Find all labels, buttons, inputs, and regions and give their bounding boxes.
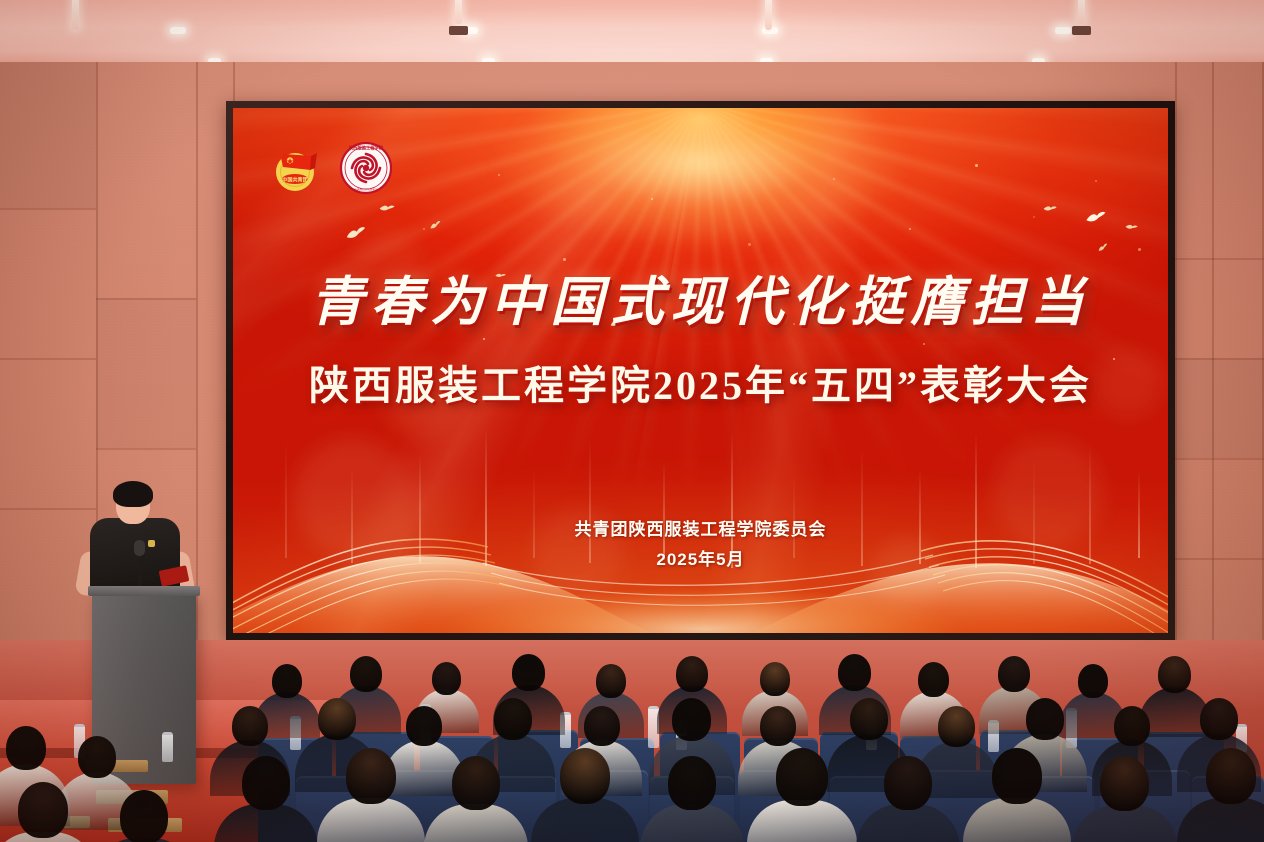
dove-icon-3 — [429, 216, 442, 234]
audience-member-head — [120, 790, 168, 842]
pendant-cap-4 — [1072, 26, 1091, 35]
dove-icon-1 — [345, 226, 367, 245]
wall-seam-horizontal-2 — [0, 358, 96, 360]
audience-member-head — [938, 706, 975, 747]
light-particle-10 — [975, 164, 978, 167]
emblem-group: 中国共青团 陕西服装工程学院 SHAANXI FASHION — [267, 141, 393, 200]
audience-member-head — [1158, 656, 1191, 693]
audience-member-head — [242, 756, 290, 810]
audience-member-head — [512, 654, 545, 691]
dove-icon-5 — [1085, 210, 1107, 229]
conference-hall-photo: 中国共青团 陕西服装工程学院 SHAANXI FASHION — [0, 0, 1264, 842]
audience-member-head — [760, 706, 796, 746]
pendant-light-4 — [1078, 0, 1085, 24]
light-particle-13 — [1138, 248, 1141, 251]
podium-top — [88, 586, 200, 596]
downlight-4 — [1055, 27, 1071, 34]
pendant-light-2 — [455, 0, 462, 24]
light-particle-7 — [748, 243, 751, 246]
audience-member-head — [350, 656, 382, 692]
audience-member-head — [318, 698, 356, 740]
wall-panel-shade-1 — [0, 62, 96, 208]
audience-member-head — [918, 662, 949, 697]
dove-icon-2 — [379, 200, 395, 218]
audience-member-head — [1026, 698, 1064, 740]
microphone-icon — [134, 540, 145, 556]
communist-youth-league-emblem: 中国共青团 — [267, 142, 325, 199]
college-seal-emblem: 陕西服装工程学院 SHAANXI FASHION — [339, 141, 393, 200]
audience-member-head — [346, 748, 396, 804]
lapel-badge-icon — [148, 540, 155, 547]
pendant-light-3 — [765, 0, 772, 30]
audience-member-head — [838, 654, 871, 691]
banner-date: 2025年5月 — [233, 545, 1168, 570]
audience-member-head — [998, 656, 1030, 692]
audience-member-head — [1078, 664, 1108, 698]
wall-seam-horizontal-6 — [1175, 258, 1264, 260]
banner-organizer: 共青团陕西服装工程学院委员会 — [233, 515, 1168, 540]
light-particle-5 — [651, 198, 653, 200]
light-particle-15 — [483, 338, 485, 340]
audience-member-head — [676, 656, 708, 692]
audience-member-head — [560, 748, 610, 804]
downlight-1 — [170, 27, 186, 34]
audience-member-head — [992, 748, 1042, 804]
banner-headline: 青春为中国式现代化挺膺担当 — [233, 260, 1168, 336]
audience-member-head — [884, 756, 932, 810]
pendant-light-1 — [72, 0, 79, 30]
light-particle-18 — [923, 343, 925, 345]
water-bottle-11 — [162, 732, 173, 762]
light-particle-6 — [703, 168, 705, 170]
wall-panel-shade-2 — [96, 298, 196, 448]
svg-text:SHAANXI FASHION: SHAANXI FASHION — [354, 188, 378, 192]
audience-member-head — [672, 698, 711, 741]
audience-member-head — [452, 756, 500, 810]
wall-seam-horizontal-8 — [1175, 458, 1264, 460]
light-particle-3 — [498, 174, 500, 176]
audience-member-head — [432, 662, 461, 695]
audience-member-head — [1206, 748, 1256, 804]
audience-member-head — [584, 706, 620, 746]
wall-seam-horizontal-5 — [96, 448, 196, 450]
speaker-hair — [113, 481, 153, 507]
wall-seam-horizontal-9 — [1175, 558, 1264, 560]
dove-icon-7 — [1097, 238, 1109, 256]
banner-subhead: 陕西服装工程学院2025年“五四”表彰大会 — [233, 353, 1168, 411]
pendant-cap-2 — [449, 26, 468, 35]
audience-member-head — [760, 662, 790, 696]
audience-member-head — [596, 664, 626, 698]
audience-member-head — [776, 748, 828, 806]
audience-member-head — [1114, 706, 1150, 746]
light-particle-11 — [1033, 216, 1035, 218]
audience-member-head — [406, 706, 442, 746]
audience-member-head — [1200, 698, 1238, 740]
audience-member-head — [668, 756, 716, 810]
light-particle-12 — [1095, 180, 1097, 182]
audience-member-head — [18, 782, 68, 838]
light-particle-9 — [909, 228, 911, 230]
audience — [0, 620, 1264, 842]
wall-seam-horizontal-3 — [0, 508, 96, 510]
wall-seam-vertical-2 — [196, 62, 198, 662]
audience-member-head — [850, 698, 888, 740]
audience-member-head — [494, 698, 532, 740]
wall-seam-horizontal-1 — [0, 208, 96, 210]
audience-member-head — [78, 736, 116, 778]
light-particle-2 — [423, 228, 425, 230]
audience-member-head — [272, 664, 302, 698]
audience-member-head — [6, 726, 46, 770]
dove-icon-6 — [1125, 218, 1138, 236]
svg-text:中国共青团: 中国共青团 — [282, 176, 307, 183]
dove-icon-4 — [1043, 200, 1057, 218]
light-particle-8 — [833, 178, 835, 180]
led-screen: 中国共青团 陕西服装工程学院 SHAANXI FASHION — [233, 108, 1168, 633]
audience-member-head — [232, 706, 268, 746]
wall-panel-shade-3 — [1175, 358, 1264, 458]
audience-member-head — [1100, 756, 1149, 811]
svg-text:陕西服装工程学院: 陕西服装工程学院 — [349, 145, 384, 152]
